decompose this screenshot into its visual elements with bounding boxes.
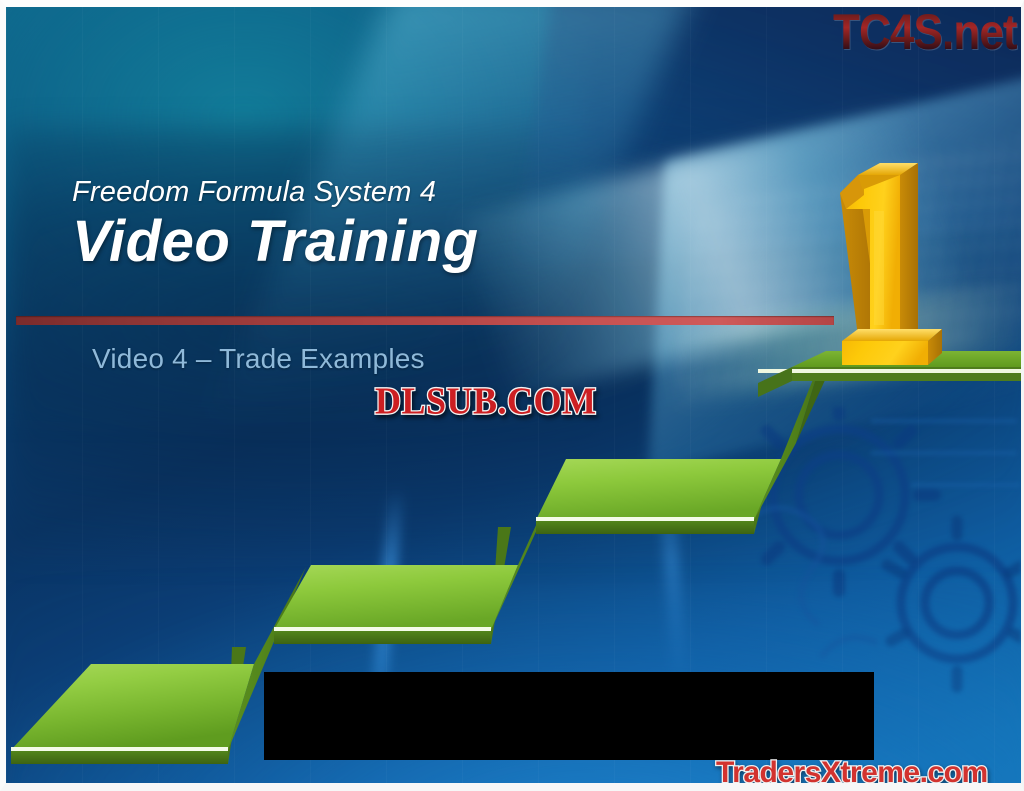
watermark-tc4s: TC4S.net [833,3,1017,61]
title-block: Freedom Formula System 4 Video Training [72,175,852,274]
presentation-slide: Freedom Formula System 4 Video Training … [0,0,1024,791]
slide-eyebrow: Freedom Formula System 4 [72,175,852,209]
watermark-tradersxtreme: TradersXtreme.com [716,756,988,790]
watermark-dlsub: DLSUB.COM [375,379,597,424]
page-title: Video Training [72,211,852,274]
staircase-step-middle [274,459,566,644]
slide-subtitle: Video 4 – Trade Examples [92,343,425,375]
redaction-bar [264,672,874,760]
title-divider [16,316,834,325]
staircase-step-bottom [11,567,306,764]
